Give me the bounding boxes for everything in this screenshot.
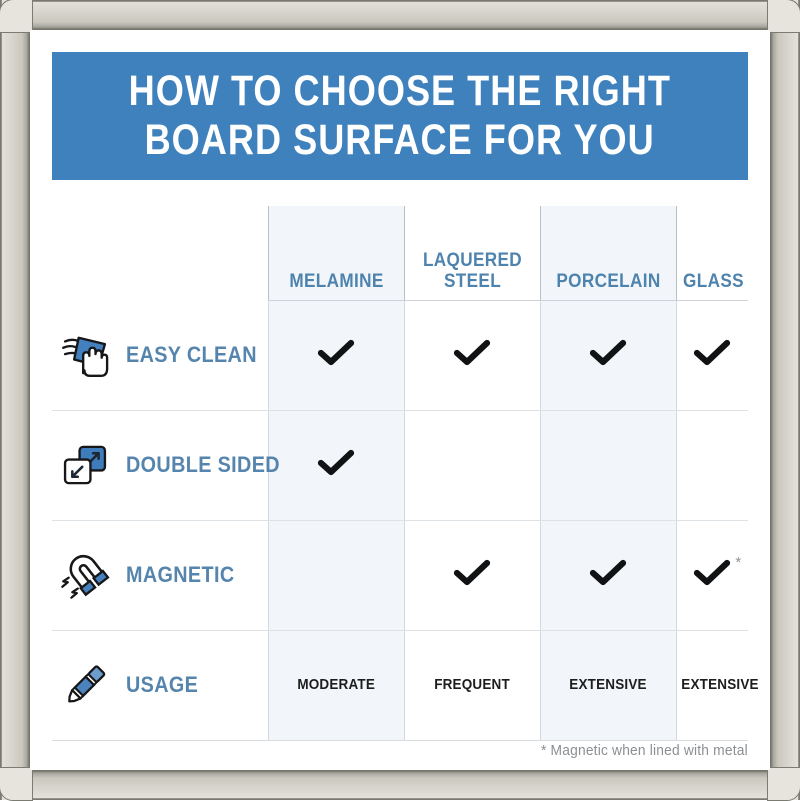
cell-double-sided-porcelain [540, 410, 676, 520]
frame-right-edge [770, 0, 800, 800]
comparison-table: MELAMINE LAQUERED STEEL PORCELAIN GLASS [52, 206, 748, 741]
usage-value-melamine: MODERATE [297, 676, 375, 693]
frame-bottom-edge [0, 770, 800, 800]
check-icon [588, 558, 628, 588]
cell-usage-glass: EXTENSIVE [676, 630, 748, 740]
cell-double-sided-glass [676, 410, 748, 520]
cell-magnetic-laquered-steel [404, 520, 540, 630]
column-header-glass-label: GLASS [683, 271, 742, 292]
cell-easy-clean-glass [676, 300, 748, 410]
column-header-glass: GLASS [676, 206, 748, 300]
cell-usage-porcelain: EXTENSIVE [540, 630, 676, 740]
row-label-magnetic-text: MAGNETIC [126, 562, 234, 588]
row-label-magnetic: MAGNETIC [52, 520, 268, 630]
cell-magnetic-glass: * [676, 520, 748, 630]
row-label-easy-clean-text: EASY CLEAN [126, 342, 257, 368]
row-label-usage-text: USAGE [126, 672, 198, 698]
check-icon [692, 338, 732, 368]
usage-value-glass: EXTENSIVE [681, 676, 758, 693]
footnote-text: * Magnetic when lined with metal [541, 742, 748, 759]
frame-left-edge [0, 0, 30, 800]
usage-value-porcelain: EXTENSIVE [569, 676, 646, 693]
frame-corner-top-left [0, 0, 33, 33]
frame-corner-top-right [767, 0, 800, 33]
frame-corner-bottom-left [0, 767, 33, 801]
horseshoe-magnet-icon [56, 546, 114, 604]
column-header-melamine-label: MELAMINE [278, 271, 393, 292]
cell-easy-clean-porcelain [540, 300, 676, 410]
hand-wiping-cloth-icon [56, 326, 114, 384]
table-row: MAGNETIC [52, 520, 748, 630]
cell-easy-clean-melamine [268, 300, 404, 410]
cell-usage-melamine: MODERATE [268, 630, 404, 740]
whiteboard-frame: HOW TO CHOOSE THE RIGHT BOARD SURFACE FO… [0, 0, 800, 800]
cell-magnetic-porcelain [540, 520, 676, 630]
check-icon [316, 448, 356, 478]
column-header-laquered-steel: LAQUERED STEEL [404, 206, 540, 300]
table-row: USAGE MODERATE FREQUENT EXTENSIVE EXTENS… [52, 630, 748, 740]
cell-magnetic-melamine [268, 520, 404, 630]
footnote-marker: * [735, 555, 741, 570]
two-overlapping-panels-icon [56, 436, 114, 494]
row-label-double-sided-text: DOUBLE SIDED [126, 452, 280, 478]
board-surface: HOW TO CHOOSE THE RIGHT BOARD SURFACE FO… [30, 30, 770, 770]
check-icon: * [692, 558, 732, 588]
row-label-usage: USAGE [52, 630, 268, 740]
cell-usage-laquered-steel: FREQUENT [404, 630, 540, 740]
row-label-double-sided: DOUBLE SIDED [52, 410, 268, 520]
usage-value-laquered-steel: FREQUENT [434, 676, 510, 693]
marker-pen-icon [56, 656, 114, 714]
title-line-2: BOARD SURFACE FOR YOU [145, 116, 655, 165]
title-banner: HOW TO CHOOSE THE RIGHT BOARD SURFACE FO… [52, 52, 748, 180]
cell-double-sided-melamine [268, 410, 404, 520]
table-header-row: MELAMINE LAQUERED STEEL PORCELAIN GLASS [52, 206, 748, 300]
column-header-melamine: MELAMINE [268, 206, 404, 300]
column-header-laquered-steel-line2: STEEL [414, 271, 529, 292]
frame-corner-bottom-right [767, 767, 800, 801]
column-header-porcelain: PORCELAIN [540, 206, 676, 300]
row-label-easy-clean: EASY CLEAN [52, 300, 268, 410]
frame-top-edge [0, 0, 800, 30]
table-row: EASY CLEAN [52, 300, 748, 410]
cell-double-sided-laquered-steel [404, 410, 540, 520]
header-cell-blank [52, 206, 268, 300]
check-icon [452, 338, 492, 368]
column-header-laquered-steel-line1: LAQUERED [414, 250, 529, 271]
surface-comparison-table: MELAMINE LAQUERED STEEL PORCELAIN GLASS [52, 206, 748, 741]
cell-easy-clean-laquered-steel [404, 300, 540, 410]
column-header-porcelain-label: PORCELAIN [550, 271, 665, 292]
check-icon [452, 558, 492, 588]
table-row: DOUBLE SIDED [52, 410, 748, 520]
check-icon [316, 338, 356, 368]
title-line-1: HOW TO CHOOSE THE RIGHT [129, 67, 671, 116]
check-icon [588, 338, 628, 368]
